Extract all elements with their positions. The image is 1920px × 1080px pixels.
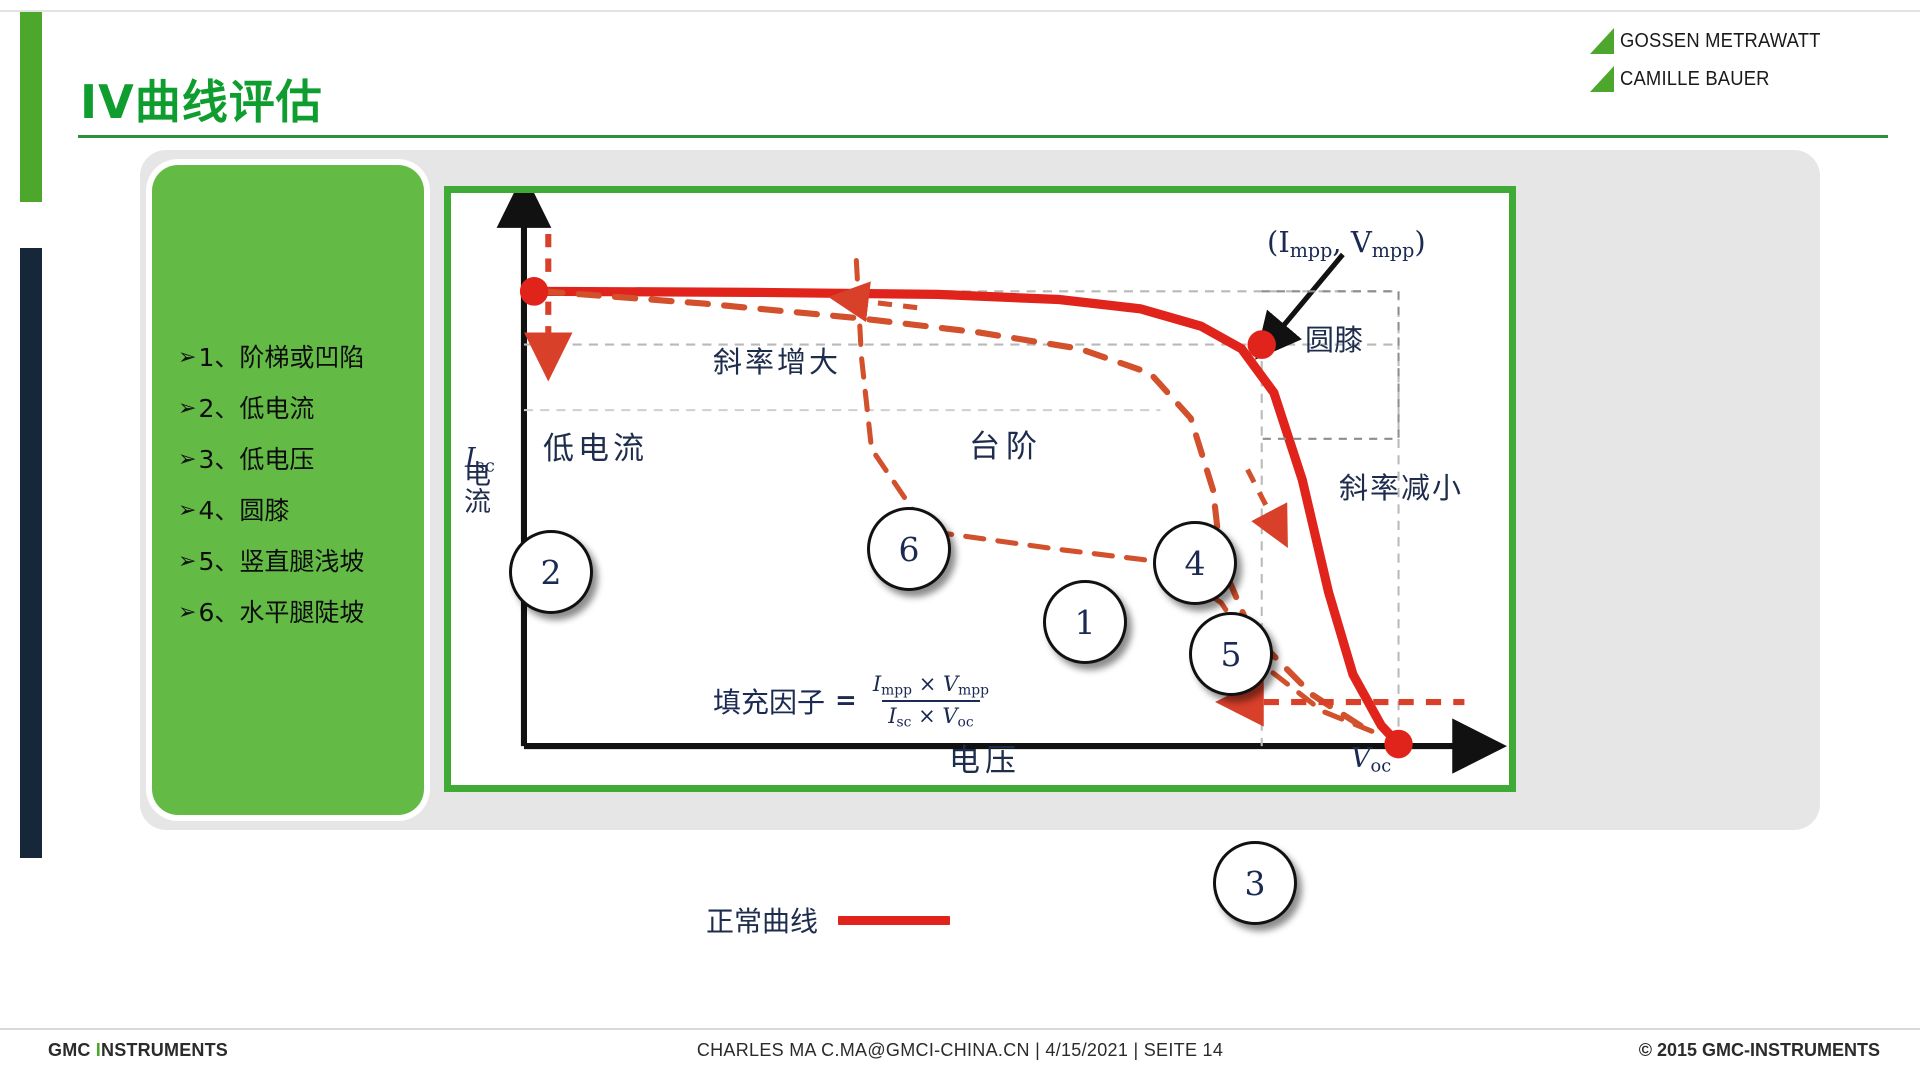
slope-decrease-label: 斜率减小 (1339, 465, 1463, 507)
arrow-bullet-icon: ➢ (178, 547, 196, 577)
title-underline (78, 135, 1888, 138)
badge-1[interactable]: 1 (1043, 580, 1127, 664)
slope-increase-label: 斜率增大 (713, 339, 841, 381)
x-axis-title: 电压 (949, 735, 1021, 780)
badge-2[interactable]: 2 (509, 530, 593, 614)
list-item: ➢ 2、低电流 (178, 394, 424, 424)
logo-camille-bauer: CAMILLE BAUER (1590, 66, 1890, 92)
list-item: ➢ 6、水平腿陡坡 (178, 598, 424, 628)
page-title: IV曲线评估 (80, 66, 323, 132)
triangle-logo-icon (1590, 28, 1614, 54)
equals-sign: = (835, 686, 857, 716)
list-item-label: 2、低电流 (198, 394, 314, 424)
marker-isc (520, 277, 548, 306)
list-item: ➢ 1、阶梯或凹陷 (178, 343, 424, 373)
top-divider (0, 10, 1920, 12)
footer-copyright: © 2015 GMC-INSTRUMENTS (1639, 1040, 1880, 1061)
footer-center-text: CHARLES MA C.MA@GMCI-CHINA.CN | 4/15/202… (0, 1040, 1920, 1061)
footer: GMC INSTRUMENTS CHARLES MA C.MA@GMCI-CHI… (0, 1040, 1920, 1070)
list-item-label: 6、水平腿陡坡 (198, 598, 364, 628)
bullet-list-card: ➢ 1、阶梯或凹陷 ➢ 2、低电流 ➢ 3、低电压 ➢ 4、圆膝 ➢ 5、竖直腿… (152, 165, 424, 815)
list-item: ➢ 5、竖直腿浅坡 (178, 547, 424, 577)
arrow-bullet-icon: ➢ (178, 445, 196, 475)
fraction: Impp × Vmpp Isc × Voc (867, 672, 995, 731)
badge-5[interactable]: 5 (1189, 612, 1273, 696)
round-knee-label: 圆膝 (1305, 317, 1363, 359)
list-item-label: 5、竖直腿浅坡 (198, 547, 364, 577)
fraction-numerator: Impp × Vmpp (867, 672, 995, 700)
voc-axis-label: Voc (1351, 743, 1391, 776)
chart-legend: 正常曲线 (706, 900, 950, 940)
low-current-label: 低电流 (543, 423, 648, 468)
bullet-list: ➢ 1、阶梯或凹陷 ➢ 2、低电流 ➢ 3、低电压 ➢ 4、圆膝 ➢ 5、竖直腿… (152, 343, 424, 649)
list-item-label: 3、低电压 (198, 445, 314, 475)
list-item: ➢ 4、圆膝 (178, 496, 424, 526)
badge-6[interactable]: 6 (867, 507, 951, 591)
fraction-denominator: Isc × Voc (882, 700, 979, 730)
accent-bar-dark (20, 248, 42, 858)
step-label: 台阶 (969, 421, 1043, 466)
logo-label: GOSSEN METRAWATT (1620, 30, 1821, 53)
list-item: ➢ 3、低电压 (178, 445, 424, 475)
fill-factor-formula: 填充因子 = Impp × Vmpp Isc × Voc (713, 672, 995, 731)
list-item-label: 1、阶梯或凹陷 (198, 343, 364, 373)
badge-3[interactable]: 3 (1213, 841, 1297, 925)
y-axis-title: 电流 (455, 460, 494, 514)
logo-block: GOSSEN METRAWATT CAMILLE BAUER (1590, 28, 1890, 104)
fill-factor-label: 填充因子 (713, 681, 825, 721)
triangle-logo-icon (1590, 66, 1614, 92)
slide-root: IV曲线评估 GOSSEN METRAWATT CAMILLE BAUER ➢ … (0, 0, 1920, 1080)
slope-increase-arrow (858, 301, 917, 308)
logo-gossen-metrawatt: GOSSEN METRAWATT (1590, 28, 1890, 54)
list-item-label: 4、圆膝 (198, 496, 289, 526)
arrow-bullet-icon: ➢ (178, 343, 196, 373)
arrow-bullet-icon: ➢ (178, 598, 196, 628)
logo-label: CAMILLE BAUER (1620, 68, 1770, 91)
badge-4[interactable]: 4 (1153, 521, 1237, 605)
arrow-bullet-icon: ➢ (178, 496, 196, 526)
marker-mpp (1248, 330, 1276, 359)
legend-label: 正常曲线 (706, 900, 818, 940)
mpp-coordinate-label: (Impp, Vmpp) (1267, 225, 1426, 262)
legend-color-swatch (838, 916, 950, 925)
footer-divider (0, 1028, 1920, 1030)
arrow-bullet-icon: ➢ (178, 394, 196, 424)
accent-bar-green (20, 12, 42, 202)
